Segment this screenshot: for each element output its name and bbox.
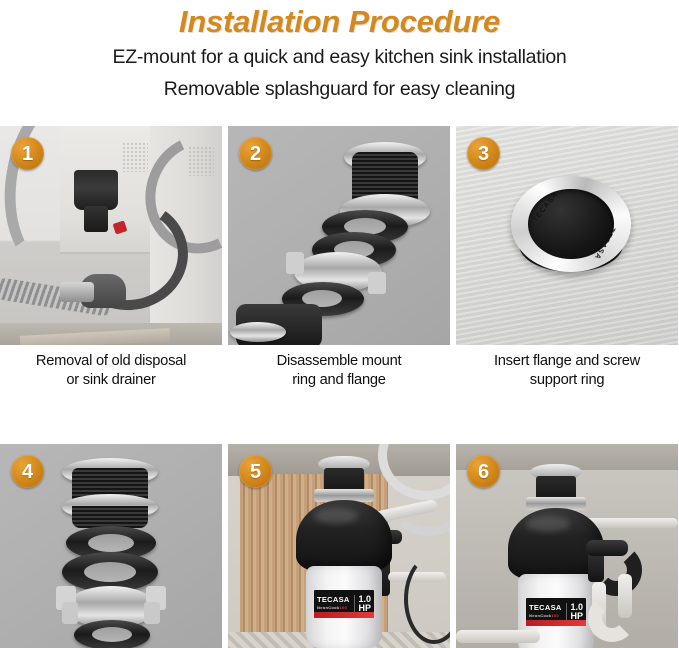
step-caption-3-line-2: support ring [456,371,678,390]
label-model-6: NeonCook [529,613,551,618]
page-title: Installation Procedure [0,2,679,42]
step-caption-1-line-1: Removal of old disposal [0,352,222,371]
step-cell-4: 4 Place mount ring and cushion mount [0,444,222,648]
step-caption-2: Disassemble mount ring and flange [228,345,450,390]
step-badge-1: 1 [11,137,44,170]
step-cell-6: TECASA NeonCook100 1.0 HP [456,444,678,648]
step-image-1: 1 [0,126,222,345]
label-model-5: NeonCook [317,605,339,610]
step-caption-3: Insert flange and screw support ring [456,345,678,390]
product-label-6: TECASA NeonCook100 1.0 HP [526,598,586,626]
step-badge-4: 4 [11,455,44,488]
disposal-unit-5: TECASA NeonCook100 1.0 HP [284,456,404,648]
label-model-suffix-5: 100 [339,605,347,610]
step-image-4: 4 [0,444,222,648]
subtitle-line-2: Removable splashguard for easy cleaning [0,73,679,106]
label-brand-6: TECASA [529,603,562,612]
subtitle-line-1: EZ-mount for a quick and easy kitchen si… [0,42,679,73]
step-image-2: 2 [228,126,450,345]
product-label-5: TECASA NeonCook100 1.0 HP [314,590,374,618]
step-caption-2-line-1: Disassemble mount [228,352,450,371]
step-caption-1-line-2: or sink drainer [0,371,222,390]
step-caption-3-line-1: Insert flange and screw [456,352,678,371]
step-caption-1: Removal of old disposal or sink drainer [0,345,222,390]
label-brand-5: TECASA [317,595,350,604]
step-image-5: TECASA NeonCook100 1.0 HP [228,444,450,648]
label-model-suffix-6: 100 [551,613,559,618]
step-cell-3: TECASA TECASA 3 Insert flange and screw … [456,126,678,390]
installation-procedure-infographic: Installation Procedure EZ-mount for a qu… [0,0,679,648]
step-image-3: TECASA TECASA 3 [456,126,678,345]
step-badge-3: 3 [467,137,500,170]
steps-row-2: 4 Place mount ring and cushion mount [0,444,679,648]
step-badge-5: 5 [239,455,272,488]
header: Installation Procedure EZ-mount for a qu… [0,0,679,106]
steps-row-1: 1 Removal of old disposal or sink draine… [0,126,679,390]
step-image-6: TECASA NeonCook100 1.0 HP [456,444,678,648]
step-badge-6: 6 [467,455,500,488]
step-cell-1: 1 Removal of old disposal or sink draine… [0,126,222,390]
step-cell-2: 2 Disassemble mount ring and flange [228,126,450,390]
step-badge-2: 2 [239,137,272,170]
step-caption-2-line-2: ring and flange [228,371,450,390]
step-cell-5: TECASA NeonCook100 1.0 HP [228,444,450,648]
steps-grid: 1 Removal of old disposal or sink draine… [0,126,679,648]
